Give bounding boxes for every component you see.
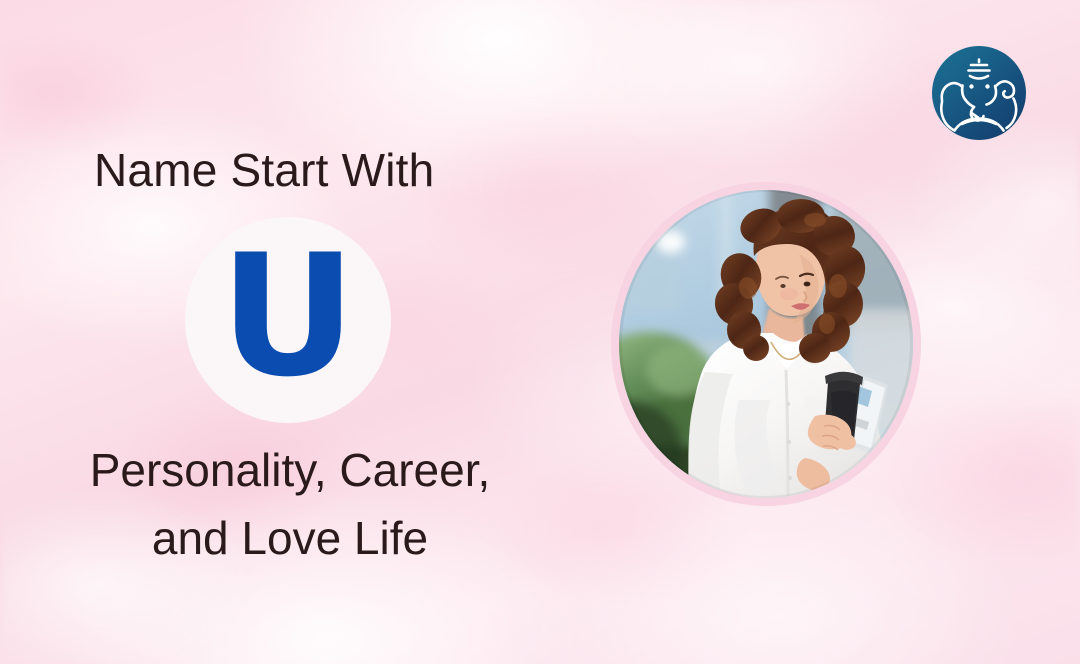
letter-glyph: U (220, 232, 356, 400)
letter-badge: U (185, 217, 391, 423)
headline-text: Name Start With (94, 142, 486, 198)
subtitle-line-2: and Love Life (30, 504, 550, 572)
photo-ring (611, 182, 921, 506)
banner-canvas: Name Start With U Personality, Career, a… (0, 0, 1080, 664)
subtitle-line-1: Personality, Career, (30, 436, 550, 504)
subtitle-text: Personality, Career, and Love Life (30, 436, 550, 572)
ganesha-logo-icon (932, 46, 1026, 140)
woman-with-coffee-photo (619, 190, 913, 498)
